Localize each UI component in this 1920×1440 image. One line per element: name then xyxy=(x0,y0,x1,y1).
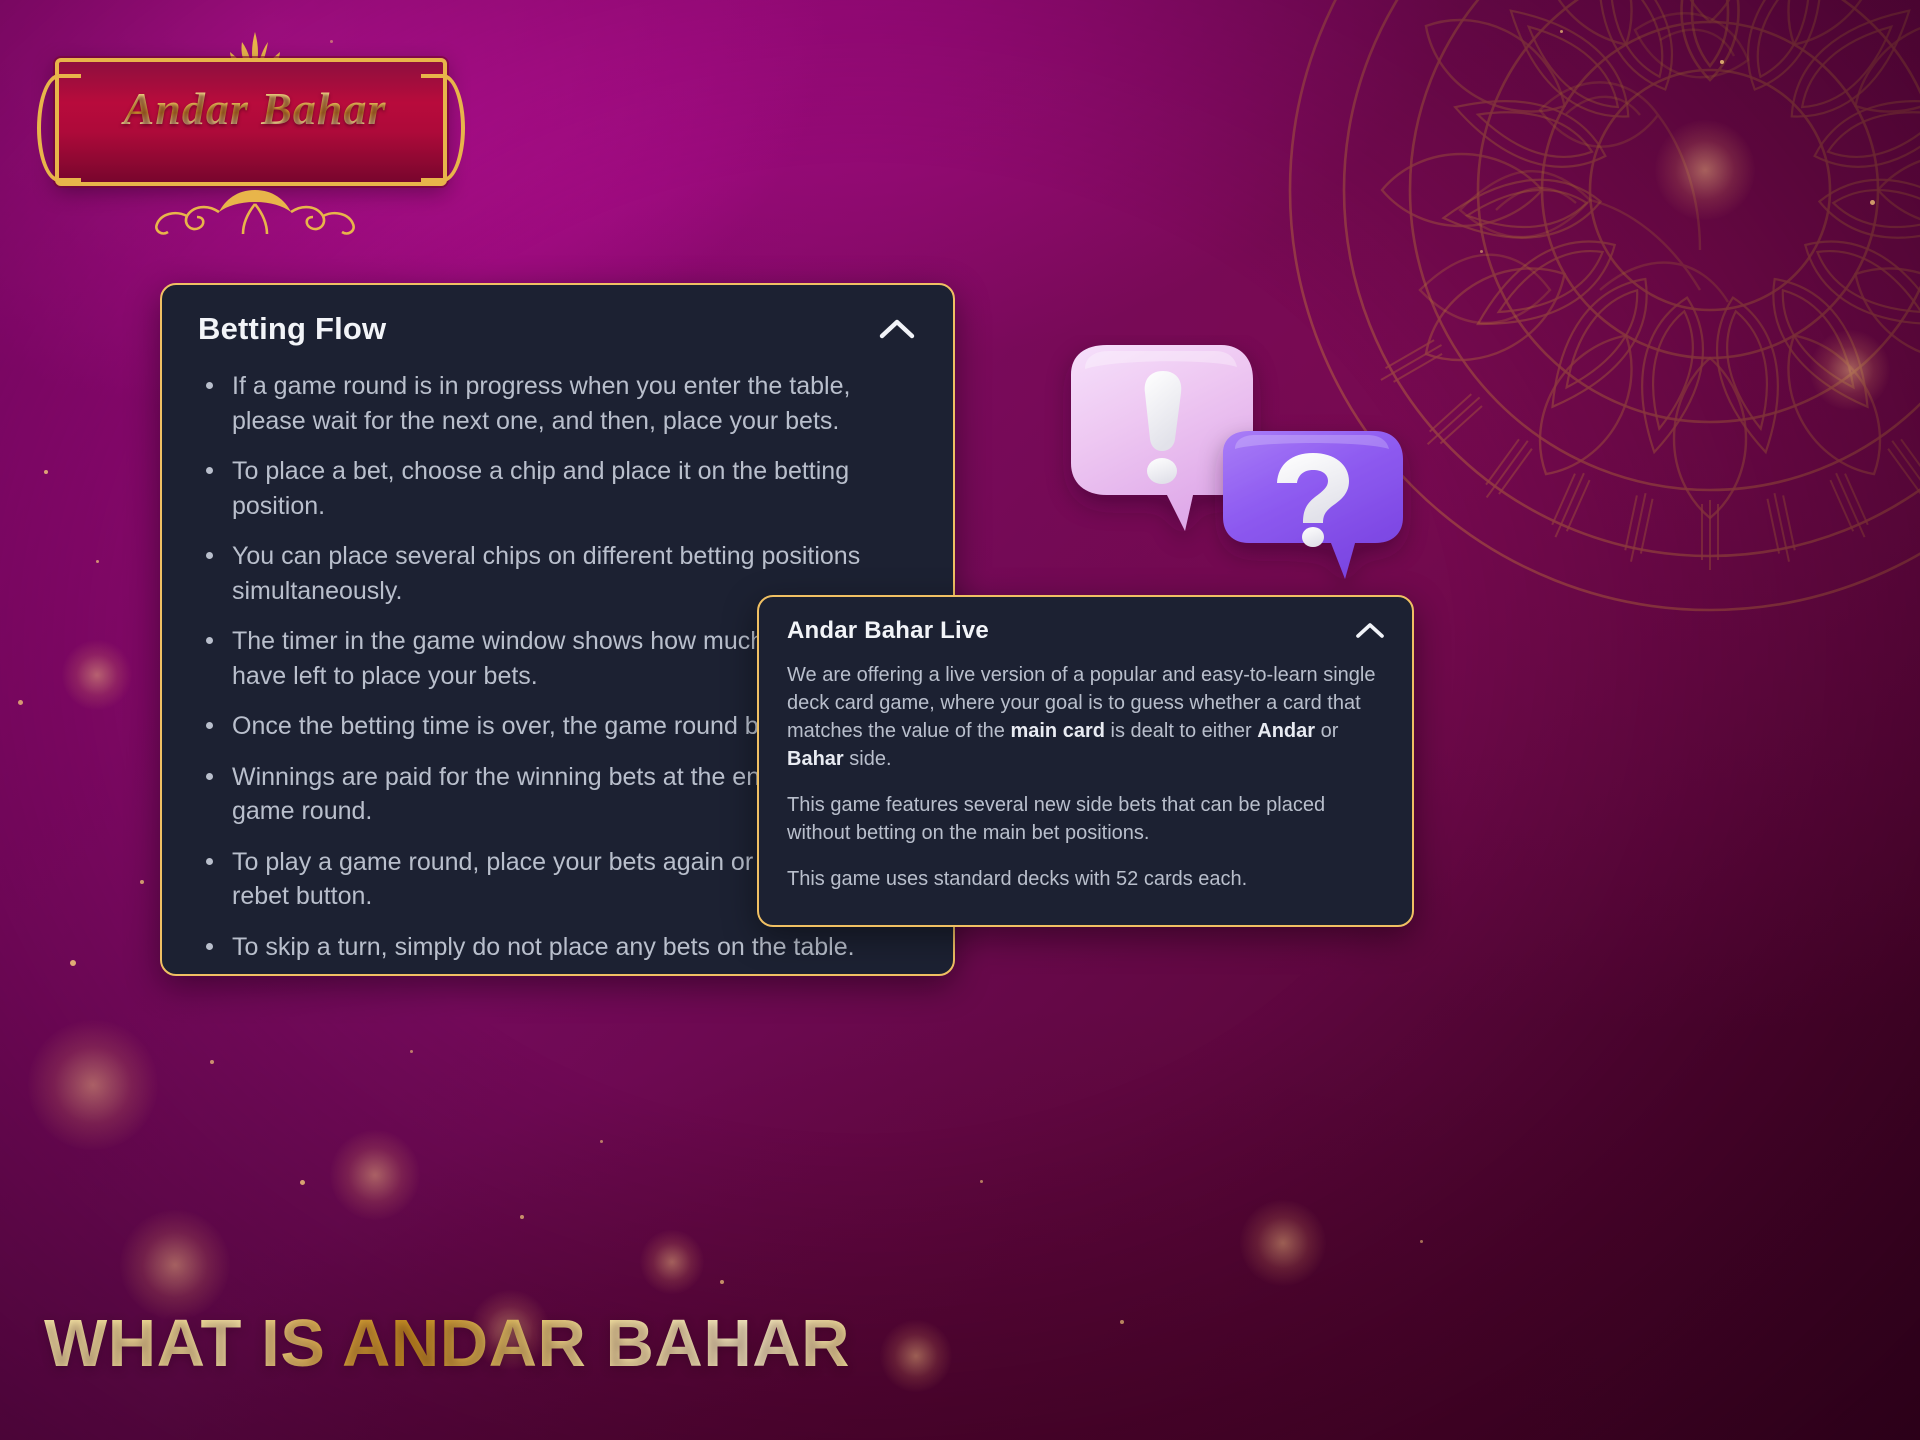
logo-bottom-ornament-icon xyxy=(135,184,375,238)
logo-text: Andar Bahar xyxy=(55,82,455,135)
chevron-up-icon[interactable] xyxy=(1354,620,1386,642)
andar-bahar-live-body: We are offering a live version of a popu… xyxy=(787,661,1386,893)
paragraph-text: This game uses standard decks with 52 ca… xyxy=(787,868,1247,890)
paragraph-text: or xyxy=(1315,720,1338,742)
andar-bahar-live-paragraph: This game uses standard decks with 52 ca… xyxy=(787,865,1386,893)
betting-flow-title: Betting Flow xyxy=(198,311,386,347)
emphasized-term: Andar xyxy=(1257,720,1315,742)
paragraph-text: is dealt to either xyxy=(1105,720,1257,742)
andar-bahar-live-title: Andar Bahar Live xyxy=(787,617,989,645)
andar-bahar-live-header[interactable]: Andar Bahar Live xyxy=(787,617,1386,645)
betting-flow-bullet-item: To place a bet, choose a chip and place … xyxy=(198,454,898,523)
paragraph-text: This game features several new side bets… xyxy=(787,794,1325,844)
speech-bubbles-illustration xyxy=(1035,335,1435,595)
emphasized-term: Bahar xyxy=(787,748,844,770)
andar-bahar-live-paragraph: We are offering a live version of a popu… xyxy=(787,661,1386,773)
andar-bahar-live-accordion-panel[interactable]: Andar Bahar Live We are offering a live … xyxy=(757,595,1414,927)
chevron-up-icon[interactable] xyxy=(877,316,917,342)
andar-bahar-live-paragraph: This game features several new side bets… xyxy=(787,791,1386,847)
question-speech-bubble-3d xyxy=(1223,431,1403,579)
page-title: WHAT IS ANDAR BAHAR xyxy=(44,1305,850,1382)
andar-bahar-logo: Andar Bahar xyxy=(55,48,455,208)
betting-flow-bullet-item: To skip a turn, simply do not place any … xyxy=(198,930,898,965)
paragraph-text: side. xyxy=(844,748,892,770)
betting-flow-header[interactable]: Betting Flow xyxy=(198,311,923,347)
emphasized-term: main card xyxy=(1010,720,1104,742)
betting-flow-bullet-item: If a game round is in progress when you … xyxy=(198,369,898,438)
